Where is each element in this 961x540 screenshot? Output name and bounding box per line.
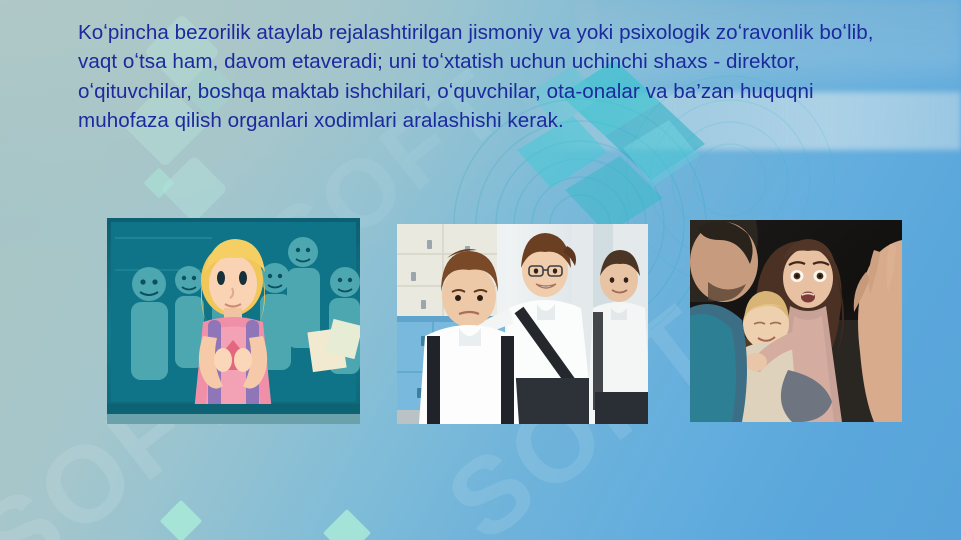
slide-body-text: Koʻpincha bezorilik ataylab rejalashtiri… (78, 18, 908, 136)
image-domestic-violence (690, 220, 902, 422)
image-cartoon-bullied-girl (107, 218, 360, 424)
image-schoolboys-hallway (397, 224, 648, 424)
presentation-slide: SOFT SOFT SOFT Koʻpincha bezorilik atayl… (0, 0, 961, 540)
